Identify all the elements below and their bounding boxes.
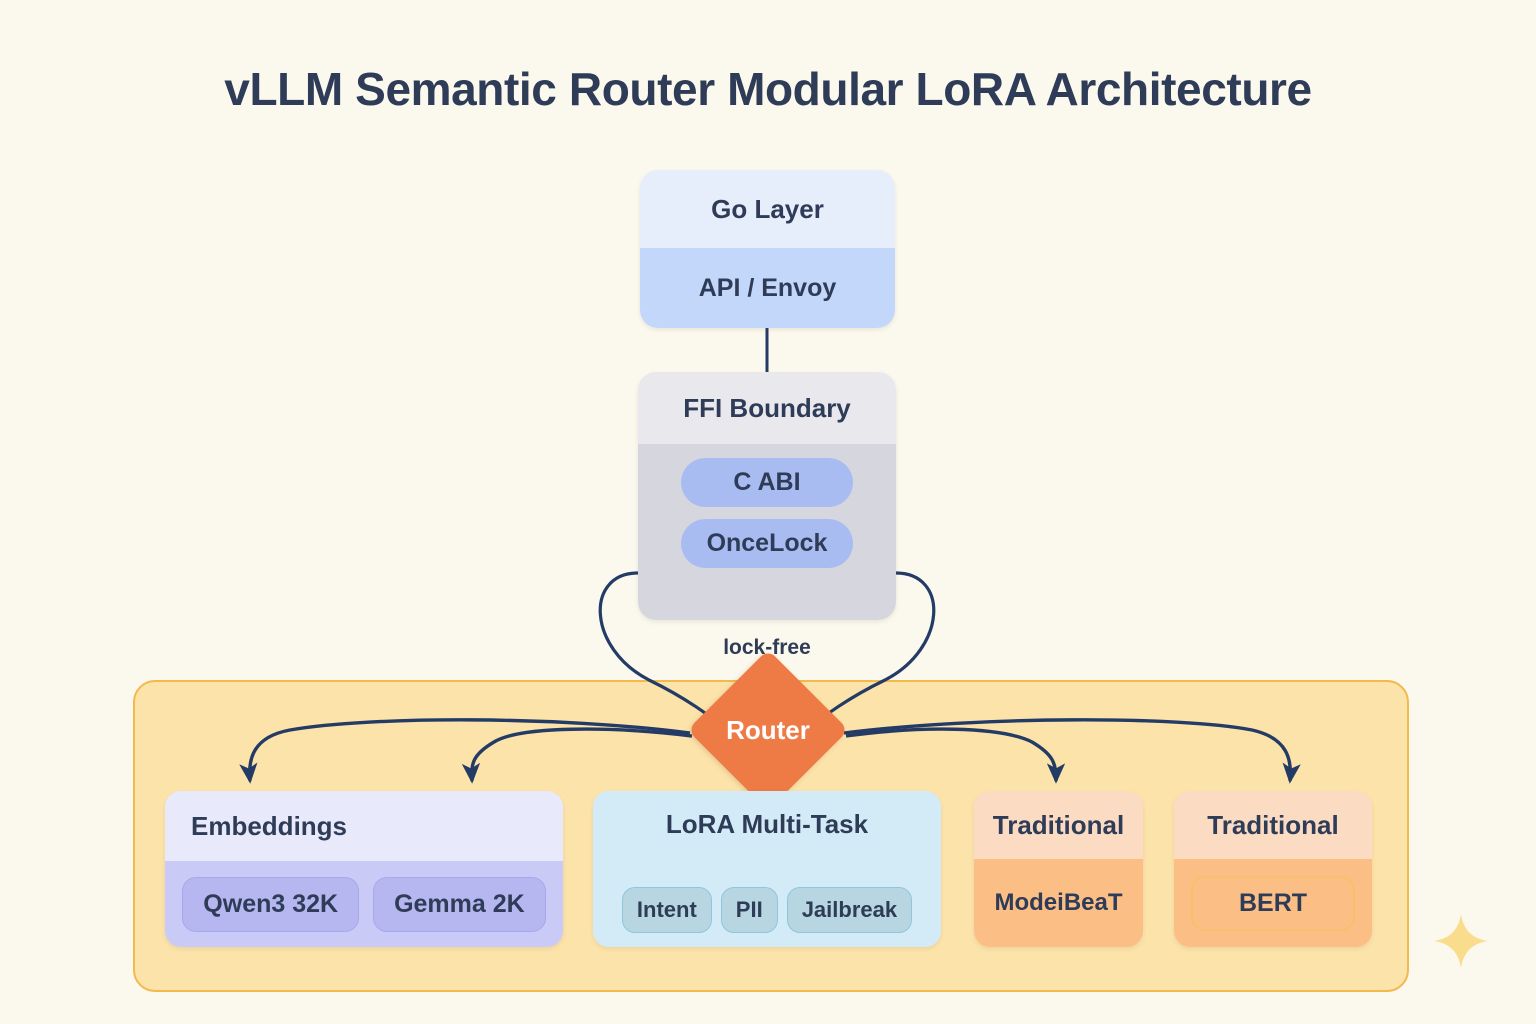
embeddings-body: Qwen3 32K Gemma 2K xyxy=(165,861,563,947)
traditional-2-header: Traditional xyxy=(1174,791,1372,859)
label-modelbeat: ModeiBeaT xyxy=(994,889,1122,917)
embeddings-header: Embeddings xyxy=(165,791,563,861)
sparkle-icon xyxy=(1432,912,1490,970)
pill-qwen3-32k[interactable]: Qwen3 32K xyxy=(182,877,359,932)
page-title: vLLM Semantic Router Modular LoRA Archit… xyxy=(0,62,1536,116)
go-layer-body: API / Envoy xyxy=(640,248,895,328)
go-layer-card[interactable]: Go Layer API / Envoy xyxy=(640,170,895,328)
ffi-boundary-card[interactable]: FFI Boundary C ABI OnceLock xyxy=(638,372,896,620)
pill-jailbreak[interactable]: Jailbreak xyxy=(787,887,912,933)
lora-multi-task-body: Intent PII Jailbreak xyxy=(593,857,941,947)
traditional-card-2[interactable]: Traditional BERT xyxy=(1174,791,1372,947)
lora-multi-task-card[interactable]: LoRA Multi-Task Intent PII Jailbreak xyxy=(593,791,941,947)
ffi-boundary-header: FFI Boundary xyxy=(638,372,896,444)
router-node[interactable]: Router xyxy=(684,673,852,787)
diagram-canvas: vLLM Semantic Router Modular LoRA Archit… xyxy=(0,0,1536,1024)
lora-multi-task-header: LoRA Multi-Task xyxy=(593,791,941,857)
pill-bert[interactable]: BERT xyxy=(1191,876,1355,931)
go-layer-header: Go Layer xyxy=(640,170,895,248)
pill-intent[interactable]: Intent xyxy=(622,887,712,933)
traditional-1-body: ModeiBeaT xyxy=(974,859,1143,947)
pill-oncelock[interactable]: OnceLock xyxy=(681,519,853,568)
router-label: Router xyxy=(684,673,852,787)
traditional-card-1[interactable]: Traditional ModeiBeaT xyxy=(974,791,1143,947)
embeddings-card[interactable]: Embeddings Qwen3 32K Gemma 2K xyxy=(165,791,563,947)
traditional-1-header: Traditional xyxy=(974,791,1143,859)
pill-gemma-2k[interactable]: Gemma 2K xyxy=(373,877,546,932)
ffi-boundary-body: C ABI OnceLock xyxy=(638,444,896,620)
pill-c-abi[interactable]: C ABI xyxy=(681,458,853,507)
pill-pii[interactable]: PII xyxy=(721,887,778,933)
traditional-2-body: BERT xyxy=(1174,859,1372,947)
